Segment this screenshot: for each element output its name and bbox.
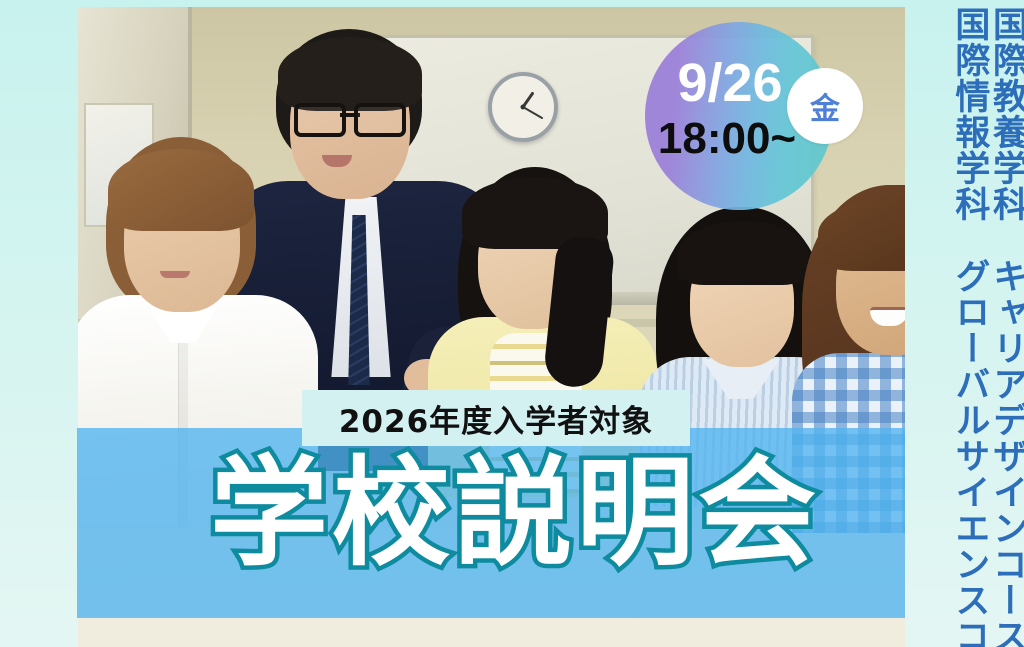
vertical-text-column-1: 国際教養学科 キャリアデザインコース — [988, 6, 1024, 647]
poster: 9/26 18:00~ 金 2026年度入学者対象 学校説明会 国際教養学科 キ… — [0, 0, 1024, 647]
subtitle-text: 2026年度入学者対象 — [339, 396, 653, 441]
teacher-glasses-icon — [292, 103, 408, 129]
f2-bangs — [678, 221, 808, 285]
male-mouth — [160, 271, 190, 278]
weekday-label: 金 — [810, 84, 840, 128]
clock-center-dot — [521, 105, 526, 110]
male-hair — [108, 149, 254, 231]
event-time: 18:00~ — [652, 117, 802, 161]
f3-hair — [818, 197, 905, 271]
page-title: 学校説明会 — [210, 452, 830, 576]
teacher-hair — [278, 37, 422, 111]
vertical-text-block: 国際教養学科 キャリアデザインコース 国際情報学科 グローバルサイエンスコース — [900, 0, 1024, 647]
event-date: 9/26 — [660, 56, 800, 110]
weekday-badge: 金 — [787, 68, 863, 144]
vertical-text-column-2: 国際情報学科 グローバルサイエンスコース — [951, 6, 987, 647]
subtitle-box: 2026年度入学者対象 — [302, 390, 690, 446]
